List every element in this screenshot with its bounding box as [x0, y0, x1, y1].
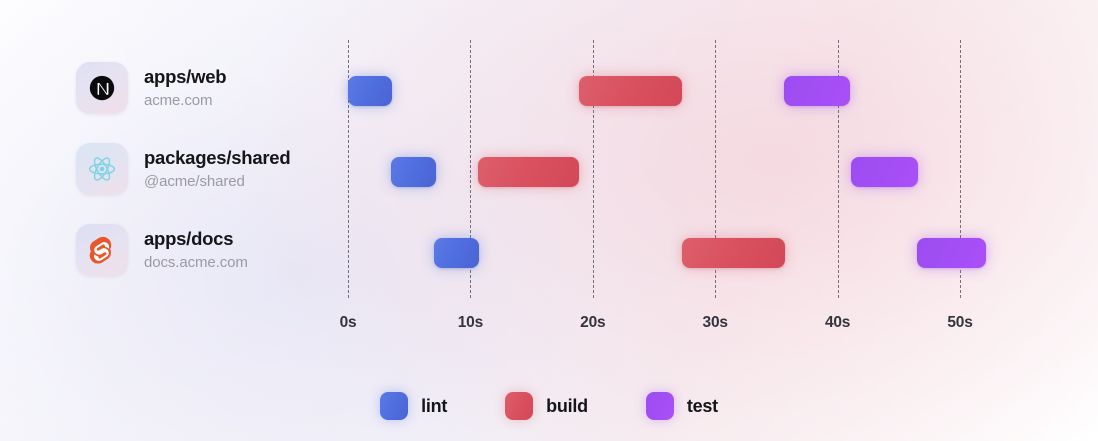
timeline-bar-lint[interactable]	[391, 157, 436, 187]
axis-tick-label: 0s	[340, 314, 357, 332]
legend-swatch-lint	[380, 392, 408, 420]
timeline-bar-build[interactable]	[579, 76, 682, 106]
legend-item-test[interactable]: test	[646, 392, 718, 420]
legend-swatch-test	[646, 392, 674, 420]
timeline-bar-test[interactable]	[784, 76, 850, 106]
legend-label: test	[687, 396, 718, 417]
timeline-bar-lint[interactable]	[434, 238, 479, 268]
axis-tick-label: 50s	[947, 314, 972, 332]
timeline-bar-lint[interactable]	[348, 76, 392, 106]
timeline-bar-test[interactable]	[917, 238, 986, 268]
legend-label: lint	[421, 396, 447, 417]
timeline-bar-build[interactable]	[478, 157, 580, 187]
legend-item-lint[interactable]: lint	[380, 392, 447, 420]
axis-tick-label: 40s	[825, 314, 850, 332]
timeline-chart-canvas: apps/web acme.com packages/shared @acme/…	[0, 0, 1098, 441]
legend-item-build[interactable]: build	[505, 392, 588, 420]
chart-legend: lintbuildtest	[0, 392, 1098, 420]
axis-tick-label: 10s	[458, 314, 483, 332]
timeline-bar-test[interactable]	[851, 157, 918, 187]
axis-tick-label: 20s	[580, 314, 605, 332]
timeline-plot-area: 0s10s20s30s40s50s	[0, 0, 1098, 441]
axis-tick-label: 30s	[703, 314, 728, 332]
legend-swatch-build	[505, 392, 533, 420]
timeline-bar-build[interactable]	[682, 238, 785, 268]
legend-label: build	[546, 396, 588, 417]
